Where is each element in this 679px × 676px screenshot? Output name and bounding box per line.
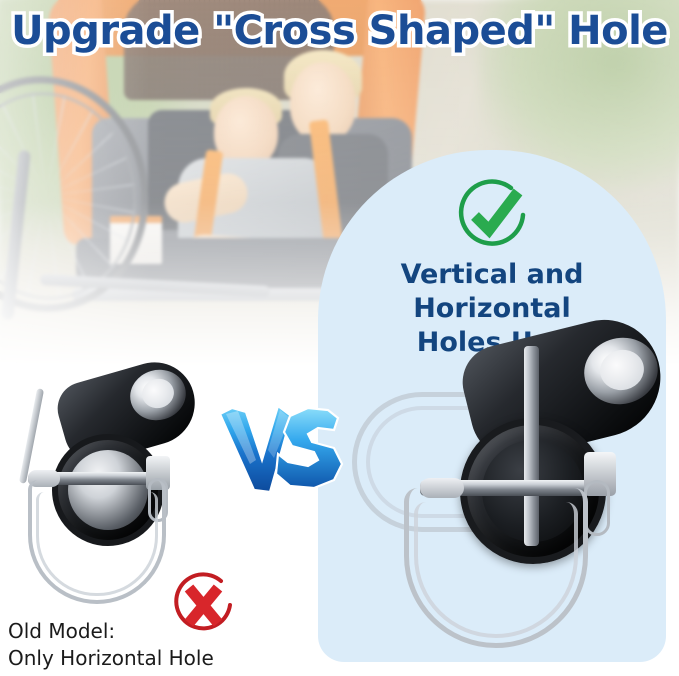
old-model-caption-line2: Only Horizontal Hole: [8, 645, 258, 672]
old-model-caption-line1: Old Model:: [8, 618, 258, 645]
new-model-product: [348, 328, 668, 658]
product-marketing-image: Upgrade "Cross Shaped" Hole Vertical and…: [0, 0, 679, 676]
old-model-caption: Old Model: Only Horizontal Hole: [8, 618, 258, 672]
page-title: Upgrade "Cross Shaped" Hole: [0, 8, 679, 54]
green-check-circle-icon: [449, 172, 535, 258]
new-model-heading-line1: Vertical and Horizontal: [318, 258, 666, 326]
vs-badge: VS: [216, 398, 346, 498]
